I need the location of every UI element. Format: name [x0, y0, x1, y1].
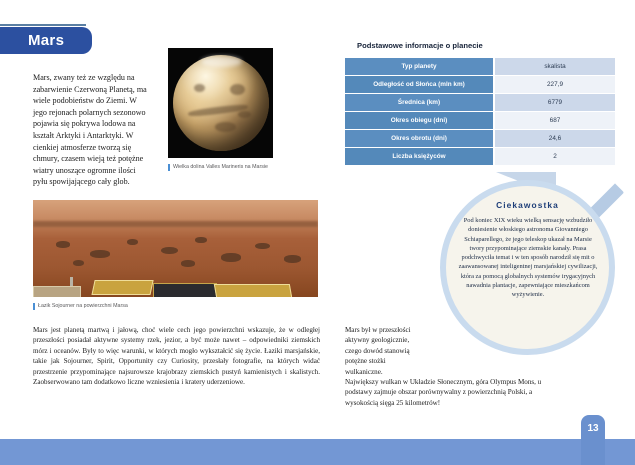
table-row: Odległość od Słońca (mln km) 227,9 — [345, 76, 615, 93]
table-heading: Podstawowe informacje o planecie — [357, 41, 483, 50]
panorama-caption: Łazik Sojourner na powierzchni Marsa — [33, 302, 318, 310]
table-value: 687 — [495, 112, 615, 129]
footer-bar — [0, 439, 635, 465]
mars-surface-image — [33, 200, 318, 297]
table-key: Liczba księżyców — [345, 148, 495, 165]
panorama-figure: Łazik Sojourner na powierzchni Marsa — [33, 200, 318, 310]
fun-fact-title-text: Ciekawostka — [496, 200, 559, 210]
table-key: Typ planety — [345, 58, 495, 75]
table-key: Odległość od Słońca (mln km) — [345, 76, 495, 93]
body-left-column: Mars jest planetą martwą i jałową, choć … — [33, 325, 320, 387]
sojourner-rover — [33, 268, 318, 297]
panorama-caption-text: Łazik Sojourner na powierzchni Marsa — [38, 302, 128, 310]
surface-mark — [215, 122, 236, 132]
table-key: Okres obiegu (dni) — [345, 112, 495, 129]
rock — [161, 247, 178, 255]
table-row: Typ planety skalista — [345, 58, 615, 75]
table-value: 2 — [495, 148, 615, 165]
rock — [221, 253, 241, 262]
planet-info-table: Typ planety skalista Odległość od Słońca… — [345, 57, 615, 166]
table-value: 6779 — [495, 94, 615, 111]
page-number-badge: 13 — [581, 415, 605, 465]
page-title: Mars — [0, 27, 92, 54]
table-key: Okres obrotu (dni) — [345, 130, 495, 147]
rock — [195, 237, 206, 243]
body-right-wide: Największy wulkan w Układzie Słonecznym,… — [345, 378, 541, 407]
slide-page: Mars Mars, zwany też ze względu na zabar… — [0, 0, 635, 465]
planet-caption-text: Wielka dolina Valles Marineris na Marsie — [173, 163, 268, 171]
rock — [127, 239, 138, 245]
caption-bullet-icon — [33, 303, 35, 310]
table-row: Średnica (km) 6779 — [345, 94, 615, 111]
table-row: Okres obiegu (dni) 687 — [345, 112, 615, 129]
table-value: 227,9 — [495, 76, 615, 93]
top-rule-decoration — [0, 24, 86, 26]
rock — [255, 243, 269, 250]
rock — [73, 260, 84, 266]
table-value: 24,6 — [495, 130, 615, 147]
fun-fact-title: Ciekawostka — [446, 200, 609, 210]
horizon-ridge — [33, 221, 318, 227]
planet-caption: Wielka dolina Valles Marineris na Marsie — [168, 163, 273, 171]
surface-mark — [230, 84, 245, 96]
caption-bullet-icon — [168, 164, 170, 171]
planet-figure: Wielka dolina Valles Marineris na Marsie — [168, 48, 273, 171]
mars-planet-image — [168, 48, 273, 158]
rover-solar-panel — [214, 284, 292, 297]
mars-disc — [173, 55, 269, 151]
rock — [181, 260, 195, 267]
surface-mark — [194, 84, 206, 93]
table-key: Średnica (km) — [345, 94, 495, 111]
table-value: skalista — [495, 58, 615, 75]
surface-mark — [238, 111, 251, 119]
rock — [284, 255, 301, 263]
rock — [56, 241, 70, 248]
rover-lander-petal — [33, 286, 81, 297]
body-right-narrow: Mars był w przeszłości aktywny geologicz… — [345, 325, 423, 377]
table-body: Typ planety skalista Odległość od Słońca… — [345, 58, 615, 165]
rover-solar-panel — [91, 280, 153, 295]
rover-deck — [153, 283, 218, 297]
polar-cap — [201, 56, 241, 68]
intro-paragraph: Mars, zwany też ze względu na zabarwieni… — [33, 72, 151, 188]
table-row: Okres obrotu (dni) 24,6 — [345, 130, 615, 147]
rock — [90, 250, 110, 258]
fun-fact-body: Pod koniec XIX wieku wielką sensację wzb… — [457, 216, 599, 300]
body-right-column: Mars był w przeszłości aktywny geologicz… — [345, 325, 550, 408]
